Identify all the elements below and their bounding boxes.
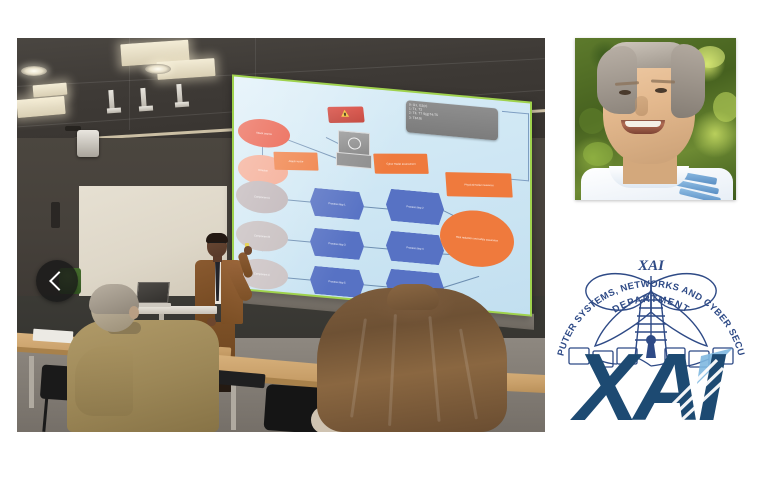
wall-fixture — [51, 202, 60, 228]
logo-wordmark: XAI — [569, 334, 733, 428]
eyeglasses — [208, 242, 226, 247]
audience-member-right — [317, 288, 507, 432]
classroom-lecture-photo: 0: G1, G2(n) 1: T1, T2 2: T3, T7 S(g)T4;… — [17, 38, 545, 432]
chevron-left-icon — [49, 271, 69, 291]
professor-portrait — [575, 38, 736, 200]
ceiling-spotlight — [145, 64, 171, 74]
projector — [77, 130, 99, 157]
ceiling-spotlight — [21, 66, 47, 76]
page-root: 0: G1, G2(n) 1: T1, T2 2: T3, T7 S(g)T4;… — [0, 0, 760, 482]
xai-department-logo: COMPUTER SYSTEMS, NETWORKS AND CYBER SEC… — [551, 208, 751, 428]
logo-wordmark-text: XAI — [569, 334, 726, 428]
ceiling-bracket — [139, 106, 153, 112]
ceiling-bracket — [107, 108, 121, 114]
audience-member-left — [63, 286, 223, 432]
screen-glare — [234, 77, 530, 315]
carousel-prev-button[interactable] — [36, 260, 78, 302]
ceiling-bracket — [175, 102, 189, 108]
logo-inner-mark: XAI — [637, 258, 665, 274]
projection-screen: 0: G1, G2(n) 1: T1, T2 2: T3, T7 S(g)T4;… — [232, 74, 532, 316]
